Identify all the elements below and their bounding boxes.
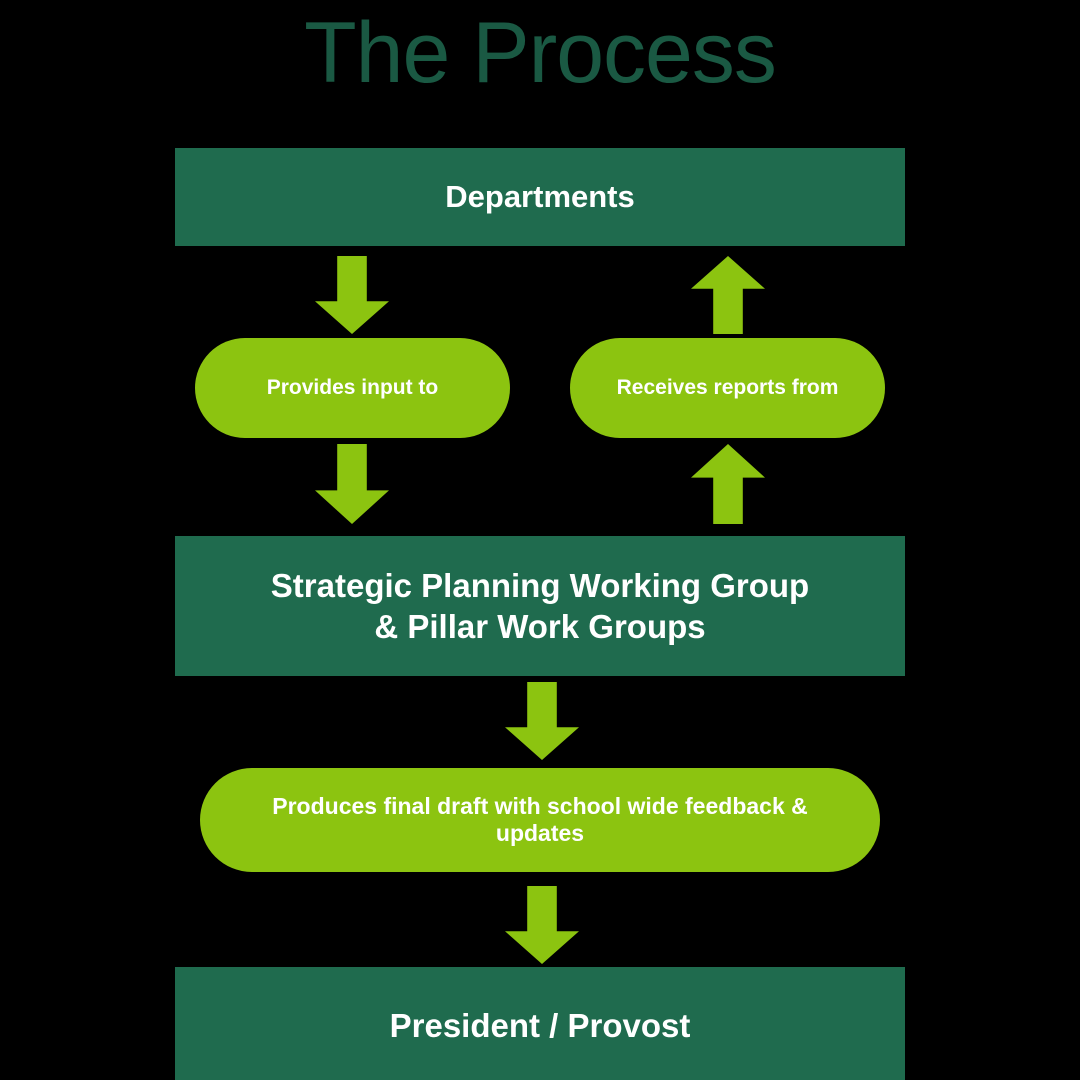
node-president-provost-label: President / Provost — [390, 1005, 691, 1046]
arrow-up-receives-reports-to-departments-icon — [691, 256, 765, 334]
node-working-group-label-line2: & Pillar Work Groups — [374, 608, 705, 645]
node-provides-input-to-label: Provides input to — [267, 376, 439, 400]
node-departments-label: Departments — [445, 178, 635, 217]
node-departments[interactable]: Departments — [175, 148, 905, 246]
node-final-draft-label: Produces final draft with school wide fe… — [226, 793, 854, 847]
arrow-down-provides-input-to-working-group-icon — [315, 444, 389, 524]
node-final-draft[interactable]: Produces final draft with school wide fe… — [200, 768, 880, 872]
node-working-group-label: Strategic Planning Working Group & Pilla… — [271, 565, 809, 648]
arrow-down-departments-to-provides-input-icon — [315, 256, 389, 334]
node-working-group-label-line1: Strategic Planning Working Group — [271, 567, 809, 604]
arrow-down-working-group-to-final-draft-icon — [505, 682, 579, 760]
node-working-group[interactable]: Strategic Planning Working Group & Pilla… — [175, 536, 905, 676]
node-receives-reports-from[interactable]: Receives reports from — [570, 338, 885, 438]
page-title: The Process — [0, 8, 1080, 98]
diagram-canvas: The Process Departments Provides input t… — [0, 0, 1080, 1080]
arrow-up-working-group-to-receives-reports-icon — [691, 444, 765, 524]
node-president-provost[interactable]: President / Provost — [175, 967, 905, 1080]
node-provides-input-to[interactable]: Provides input to — [195, 338, 510, 438]
node-receives-reports-from-label: Receives reports from — [617, 376, 839, 400]
arrow-down-final-draft-to-president-icon — [505, 886, 579, 964]
